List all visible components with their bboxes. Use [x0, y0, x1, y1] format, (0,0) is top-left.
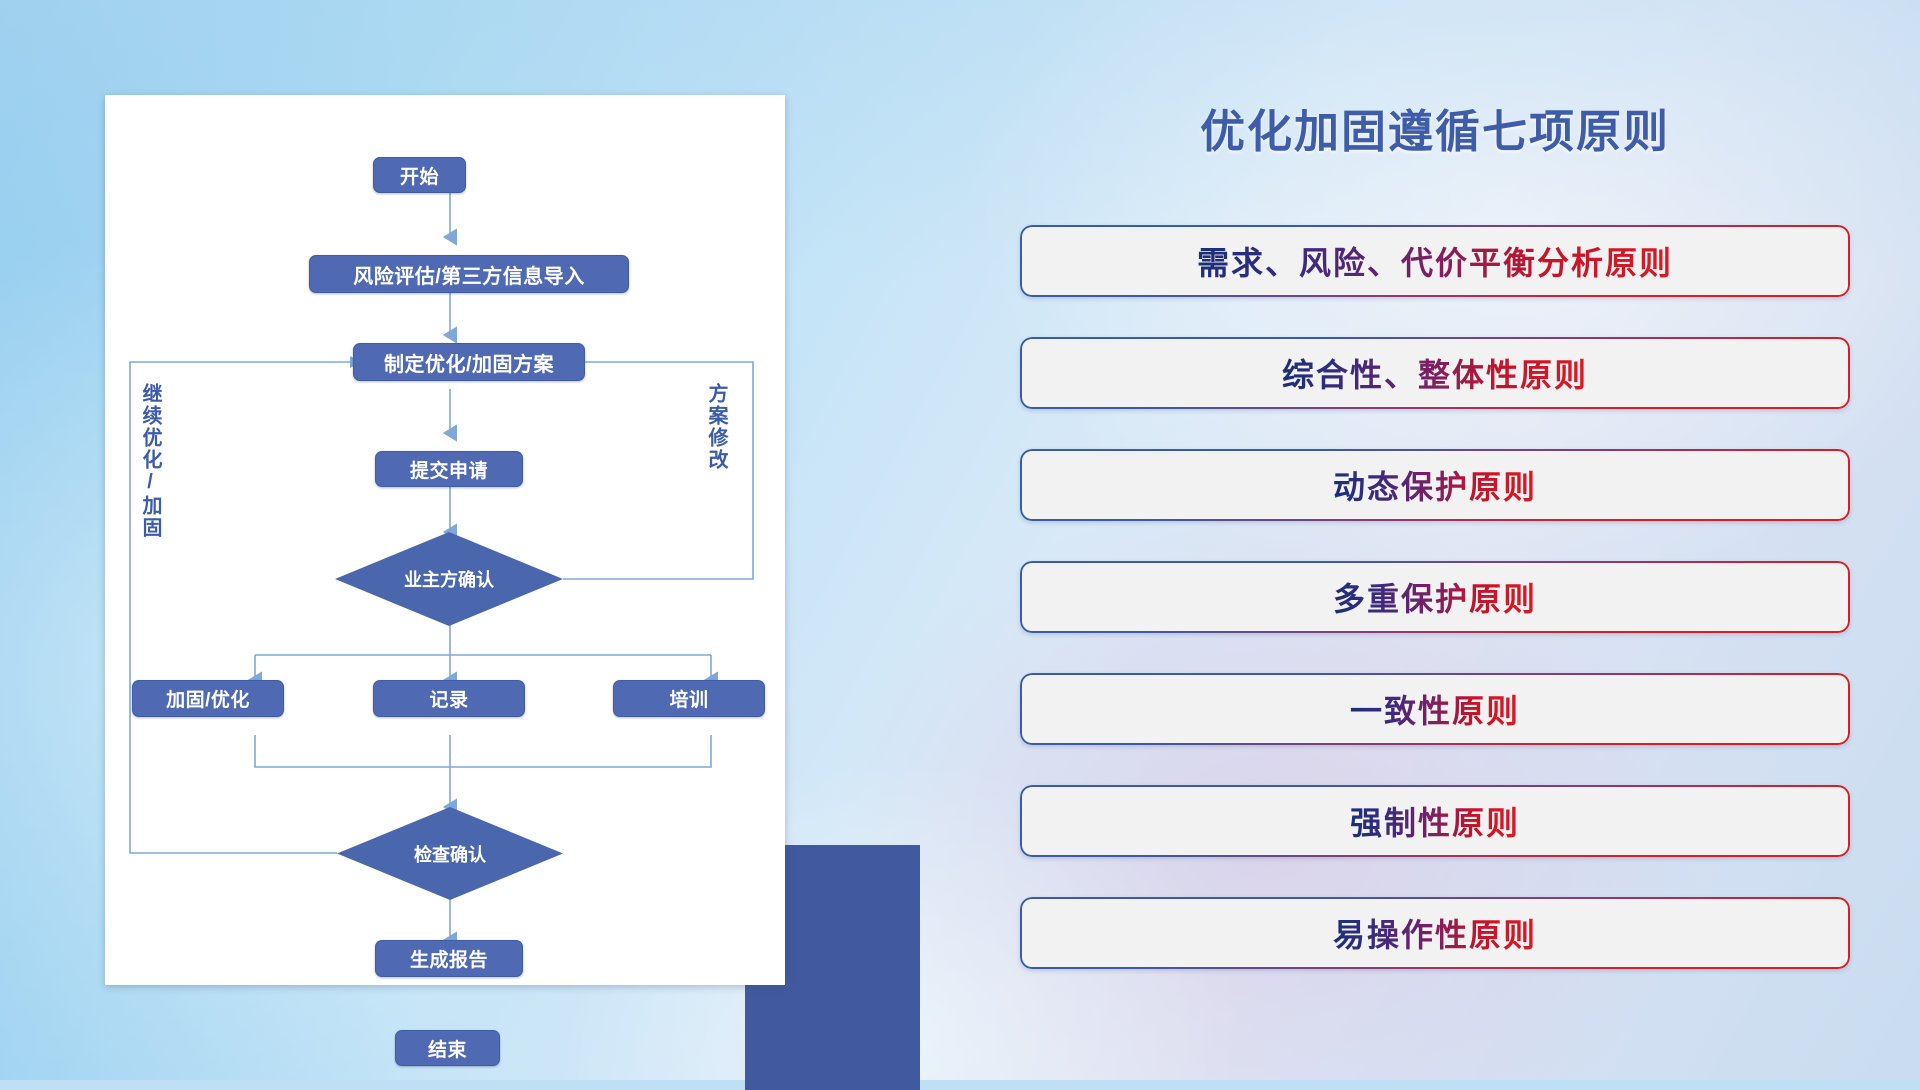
- principle-card[interactable]: 易操作性原则: [1020, 897, 1850, 969]
- principle-card[interactable]: 多重保护原则: [1020, 561, 1850, 633]
- principle-card[interactable]: 一致性原则: [1020, 673, 1850, 745]
- flow-node-label: 检查确认: [414, 841, 486, 867]
- flow-node-end[interactable]: 结束: [395, 1030, 500, 1066]
- principle-label: 需求、风险、代价平衡分析原则: [1197, 238, 1673, 284]
- flow-node-report[interactable]: 生成报告: [375, 940, 523, 977]
- principle-card[interactable]: 需求、风险、代价平衡分析原则: [1020, 225, 1850, 297]
- principle-card[interactable]: 强制性原则: [1020, 785, 1850, 857]
- flowchart-panel: 开始 风险评估/第三方信息导入 制定优化/加固方案 提交申请 业主方确认 加固/…: [105, 95, 770, 975]
- principle-card[interactable]: 动态保护原则: [1020, 449, 1850, 521]
- flow-node-start[interactable]: 开始: [373, 157, 466, 193]
- principle-label: 一致性原则: [1350, 686, 1520, 732]
- flow-node-label: 风险评估/第三方信息导入: [353, 260, 585, 289]
- flow-node-label: 培训: [669, 685, 708, 712]
- flow-edge-label-left: 继续优化/加固: [139, 383, 160, 539]
- flowchart-card: 开始 风险评估/第三方信息导入 制定优化/加固方案 提交申请 业主方确认 加固/…: [105, 95, 785, 985]
- principle-card[interactable]: 综合性、整体性原则: [1020, 337, 1850, 409]
- flow-node-label: 记录: [429, 685, 468, 712]
- flow-node-label: 开始: [400, 162, 439, 189]
- principle-label: 综合性、整体性原则: [1282, 350, 1588, 396]
- flow-node-check-confirm[interactable]: 检查确认: [337, 807, 563, 900]
- flow-node-training[interactable]: 培训: [613, 680, 765, 717]
- flow-node-label: 制定优化/加固方案: [384, 348, 554, 377]
- flow-node-plan[interactable]: 制定优化/加固方案: [353, 343, 585, 381]
- flow-node-reinforce[interactable]: 加固/优化: [132, 680, 284, 717]
- flow-node-submit[interactable]: 提交申请: [375, 451, 523, 487]
- principles-title: 优化加固遵循七项原则: [1020, 95, 1850, 160]
- flow-node-label: 业主方确认: [404, 566, 494, 592]
- flow-node-record[interactable]: 记录: [373, 680, 525, 717]
- flow-node-label: 提交申请: [410, 456, 488, 483]
- principles-list: 需求、风险、代价平衡分析原则 综合性、整体性原则 动态保护原则 多重保护原则 一…: [1020, 225, 1850, 1009]
- flow-node-risk-assessment[interactable]: 风险评估/第三方信息导入: [309, 255, 629, 293]
- flow-node-label: 生成报告: [410, 945, 488, 972]
- principle-label: 多重保护原则: [1333, 574, 1537, 620]
- principle-label: 动态保护原则: [1333, 462, 1537, 508]
- flow-node-label: 结束: [428, 1035, 467, 1062]
- principle-label: 强制性原则: [1350, 798, 1520, 844]
- flow-node-label: 加固/优化: [166, 685, 250, 712]
- principles-panel: 优化加固遵循七项原则 需求、风险、代价平衡分析原则 综合性、整体性原则 动态保护…: [1020, 95, 1850, 995]
- flow-node-owner-confirm[interactable]: 业主方确认: [335, 532, 563, 626]
- principle-label: 易操作性原则: [1333, 910, 1537, 956]
- flow-edge-label-right: 方案修改: [705, 383, 726, 471]
